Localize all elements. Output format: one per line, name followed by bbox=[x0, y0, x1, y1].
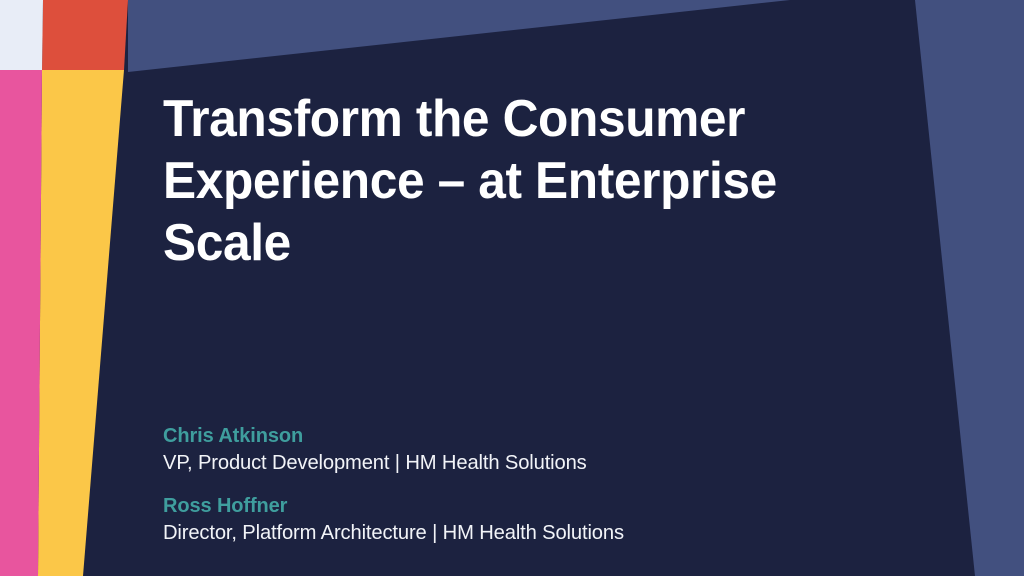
title-slide: Transform the Consumer Experience – at E… bbox=[0, 0, 1024, 576]
presenter-role: VP, Product Development | HM Health Solu… bbox=[163, 449, 892, 476]
presenter-name: Chris Atkinson bbox=[163, 424, 903, 449]
title-line-2: Experience – at Enterprise bbox=[163, 150, 812, 212]
title-line-3: Scale bbox=[163, 212, 812, 274]
title-line-1: Transform the Consumer bbox=[163, 88, 812, 150]
presenter-entry: Chris Atkinson VP, Product Development |… bbox=[163, 424, 903, 476]
presenter-list: Chris Atkinson VP, Product Development |… bbox=[163, 424, 903, 546]
presenter-entry: Ross Hoffner Director, Platform Architec… bbox=[163, 494, 903, 546]
presenter-name: Ross Hoffner bbox=[163, 494, 903, 519]
presenter-role: Director, Platform Architecture | HM Hea… bbox=[163, 519, 892, 546]
page-title: Transform the Consumer Experience – at E… bbox=[163, 88, 843, 274]
